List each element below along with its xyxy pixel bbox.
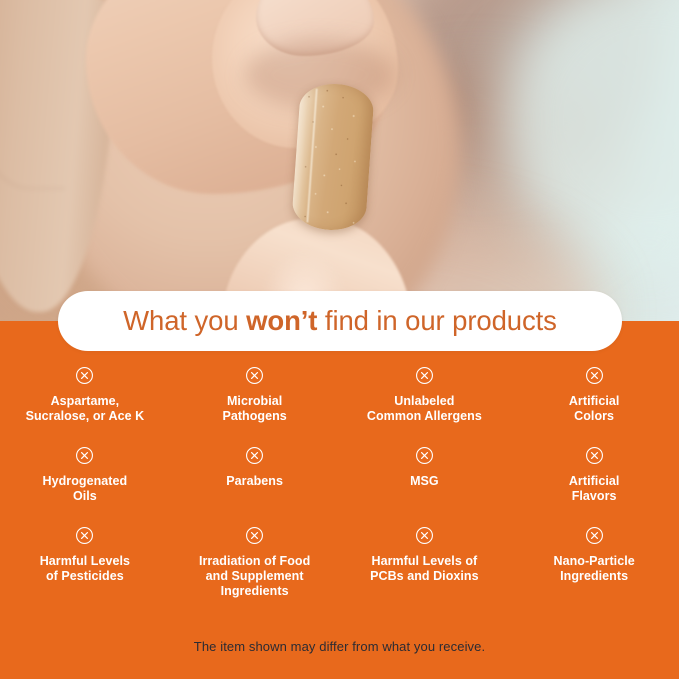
circle-x-icon [415, 366, 434, 385]
circle-x-icon [585, 446, 604, 465]
circle-x-icon [415, 526, 434, 545]
circle-x-icon [75, 526, 94, 545]
exclusion-label: Aspartame, Sucralose, or Ace K [26, 394, 145, 424]
headline-text: What you won’t find in our products [123, 305, 557, 337]
exclusion-item: Harmful Levels of PCBs and Dioxins [340, 526, 510, 612]
circle-x-icon [75, 446, 94, 465]
product-infographic: What you won’t find in our products Aspa… [0, 0, 679, 679]
exclusions-row: Harmful Levels of Pesticides Irradiation… [0, 526, 679, 612]
product-photo [0, 0, 679, 321]
supplement-tablet [291, 82, 375, 233]
headline-part-after: find in our products [317, 305, 556, 336]
exclusion-item: Harmful Levels of Pesticides [0, 526, 170, 612]
exclusion-item: Aspartame, Sucralose, or Ace K [0, 366, 170, 446]
circle-x-icon [245, 366, 264, 385]
exclusion-label: Harmful Levels of Pesticides [40, 554, 130, 584]
exclusions-grid: Aspartame, Sucralose, or Ace K Microbial… [0, 366, 679, 612]
exclusion-item: Artificial Flavors [509, 446, 679, 526]
exclusion-label: Unlabeled Common Allergens [367, 394, 482, 424]
circle-x-icon [245, 526, 264, 545]
disclaimer-text: The item shown may differ from what you … [194, 639, 485, 654]
exclusion-label: Irradiation of Food and Supplement Ingre… [199, 554, 310, 599]
circle-x-icon [415, 446, 434, 465]
exclusion-item: Irradiation of Food and Supplement Ingre… [170, 526, 340, 612]
exclusion-item: Microbial Pathogens [170, 366, 340, 446]
exclusion-label: Harmful Levels of PCBs and Dioxins [370, 554, 478, 584]
footer: The item shown may differ from what you … [0, 638, 679, 656]
circle-x-icon [585, 366, 604, 385]
headline-part-before: What you [123, 305, 246, 336]
exclusion-label: Microbial Pathogens [222, 394, 286, 424]
circle-x-icon [585, 526, 604, 545]
exclusion-label: Hydrogenated Oils [43, 474, 128, 504]
exclusion-label: MSG [410, 474, 439, 489]
circle-x-icon [75, 366, 94, 385]
exclusion-item: Parabens [170, 446, 340, 526]
exclusion-item: Artificial Colors [509, 366, 679, 446]
exclusion-item: MSG [340, 446, 510, 526]
palm-crease [0, 68, 65, 189]
exclusion-label: Parabens [226, 474, 283, 489]
exclusion-item: Unlabeled Common Allergens [340, 366, 510, 446]
headline-banner: What you won’t find in our products [58, 291, 622, 351]
headline-emphasis: won’t [246, 305, 317, 336]
exclusions-row: Hydrogenated Oils Parabens MSG [0, 446, 679, 526]
circle-x-icon [245, 446, 264, 465]
exclusions-row: Aspartame, Sucralose, or Ace K Microbial… [0, 366, 679, 446]
exclusion-item: Hydrogenated Oils [0, 446, 170, 526]
exclusion-item: Nano-Particle Ingredients [509, 526, 679, 612]
exclusion-label: Artificial Colors [569, 394, 620, 424]
exclusion-label: Nano-Particle Ingredients [554, 554, 635, 584]
exclusion-label: Artificial Flavors [569, 474, 620, 504]
